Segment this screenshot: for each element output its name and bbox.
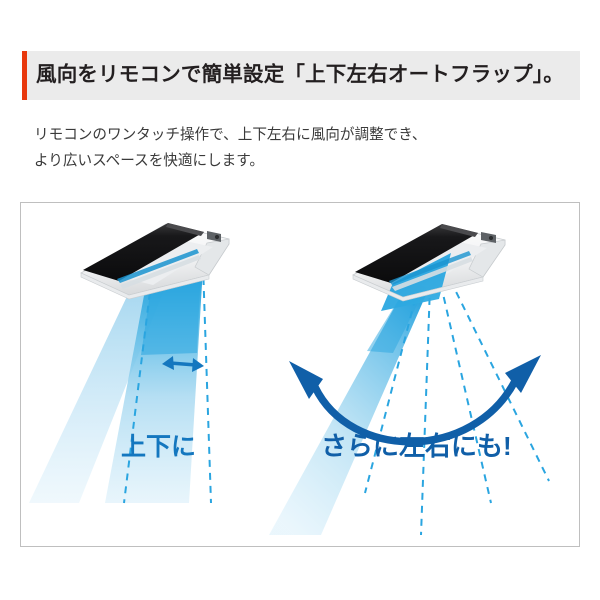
right-unit-hinge-dot (489, 236, 493, 240)
left-unit-hinge-dot (215, 235, 219, 239)
page-title: 風向をリモコンで簡単設定「上下左右オートフラップ」。 (36, 65, 564, 86)
left-air-conditioner-unit (81, 223, 229, 299)
right-air-conditioner-unit (353, 224, 505, 311)
right-guide-line-3 (435, 259, 491, 503)
illustration-frame: 上下に さらに左右にも! (20, 202, 580, 547)
right-diagram-group (269, 224, 549, 535)
section-header-band: 風向をリモコンで簡単設定「上下左右オートフラップ」。 (22, 51, 580, 100)
left-diagram-caption: 上下に (121, 435, 196, 460)
intro-paragraph: リモコンのワンタッチ操作で、上下左右に風向が調整でき、 より広いスペースを快適に… (34, 122, 554, 174)
right-swing-arc-arrow (289, 355, 541, 442)
left-guide-line-outer (203, 265, 211, 503)
intro-paragraph-line-2: より広いスペースを快適にします。 (34, 148, 554, 174)
airflow-illustration (21, 203, 581, 548)
left-diagram-group (29, 223, 229, 503)
intro-paragraph-line-1: リモコンのワンタッチ操作で、上下左右に風向が調整でき、 (34, 122, 554, 148)
header-accent-bar (22, 51, 27, 100)
right-diagram-caption: さらに左右にも! (321, 433, 512, 459)
